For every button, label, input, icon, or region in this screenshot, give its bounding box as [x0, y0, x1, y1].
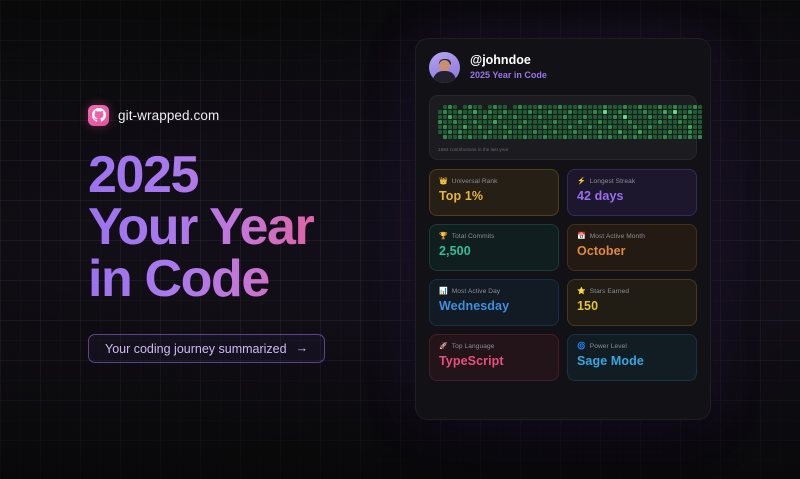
- contribution-cell: [478, 120, 482, 124]
- contribution-cell: [683, 110, 687, 114]
- contribution-cell: [598, 115, 602, 119]
- contribution-cell: [683, 120, 687, 124]
- contribution-cell: [673, 115, 677, 119]
- contribution-cell: [678, 130, 682, 134]
- wrapped-card: @johndoe 2025 Year in Code 1683 contribu…: [415, 38, 711, 420]
- contribution-cell: [553, 110, 557, 114]
- contribution-cell: [543, 125, 547, 129]
- contribution-cell: [543, 120, 547, 124]
- contribution-cell: [553, 135, 557, 139]
- contribution-cell: [493, 115, 497, 119]
- contribution-cell: [648, 125, 652, 129]
- contribution-cell: [503, 120, 507, 124]
- stat-value: October: [577, 244, 687, 258]
- contribution-cell: [523, 130, 527, 134]
- stat-value: 2,500: [439, 244, 549, 258]
- contribution-cell: [588, 130, 592, 134]
- contribution-graph[interactable]: [438, 105, 688, 139]
- contribution-cell: [618, 125, 622, 129]
- contribution-cell: [513, 135, 517, 139]
- contribution-cell: [438, 115, 442, 119]
- contribution-cell: [598, 130, 602, 134]
- contribution-cell: [643, 120, 647, 124]
- stat-head: 🏆Total Commits: [439, 233, 549, 240]
- contribution-cell: [563, 130, 567, 134]
- contribution-cell: [633, 105, 637, 109]
- contribution-cell: [688, 130, 692, 134]
- contribution-cell: [483, 130, 487, 134]
- contribution-cell: [448, 130, 452, 134]
- contribution-cell: [573, 130, 577, 134]
- contribution-cell: [593, 115, 597, 119]
- contribution-cell: [653, 125, 657, 129]
- contribution-cell: [643, 130, 647, 134]
- contribution-cell: [453, 110, 457, 114]
- contribution-cell: [438, 120, 442, 124]
- page-title-line-3: in Code: [88, 252, 388, 306]
- contribution-cell: [508, 120, 512, 124]
- contribution-cell: [673, 130, 677, 134]
- contribution-cell: [608, 105, 612, 109]
- contribution-cell: [678, 105, 682, 109]
- contribution-cell: [698, 105, 702, 109]
- contribution-cell: [623, 105, 627, 109]
- stat-card[interactable]: 🌀Power LevelSage Mode: [567, 334, 697, 381]
- github-octocat-icon: [88, 105, 109, 126]
- contribution-cell: [468, 120, 472, 124]
- contribution-cell: [538, 130, 542, 134]
- contribution-cell: [458, 105, 462, 109]
- contribution-cell: [468, 125, 472, 129]
- contribution-cell: [648, 130, 652, 134]
- contribution-cell: [548, 135, 552, 139]
- contribution-cell: [563, 115, 567, 119]
- contribution-cell: [443, 110, 447, 114]
- contribution-cell: [588, 135, 592, 139]
- contribution-cell: [593, 110, 597, 114]
- contribution-cell: [503, 105, 507, 109]
- contribution-cell: [693, 130, 697, 134]
- contribution-cell: [658, 110, 662, 114]
- contribution-cell: [668, 105, 672, 109]
- contribution-cell: [543, 110, 547, 114]
- contribution-cell: [618, 120, 622, 124]
- contribution-cell: [558, 105, 562, 109]
- contribution-cell: [518, 110, 522, 114]
- contribution-cell: [578, 125, 582, 129]
- arrow-right-icon: →: [296, 342, 309, 355]
- contribution-cell: [693, 115, 697, 119]
- contribution-cell: [513, 125, 517, 129]
- contribution-cell: [518, 105, 522, 109]
- contribution-cell: [503, 130, 507, 134]
- contribution-cell: [568, 125, 572, 129]
- contribution-cell: [513, 110, 517, 114]
- contribution-cell: [448, 120, 452, 124]
- contribution-cell: [468, 130, 472, 134]
- contribution-cell: [643, 115, 647, 119]
- contribution-cell: [603, 105, 607, 109]
- contribution-cell: [658, 130, 662, 134]
- contribution-cell: [583, 110, 587, 114]
- contribution-cell: [653, 130, 657, 134]
- contribution-cell: [508, 110, 512, 114]
- contribution-cell: [503, 110, 507, 114]
- contribution-cell: [438, 135, 442, 139]
- contribution-cell: [478, 130, 482, 134]
- contribution-cell: [583, 130, 587, 134]
- contribution-cell: [608, 115, 612, 119]
- contribution-cell: [468, 105, 472, 109]
- contribution-cell: [593, 130, 597, 134]
- contribution-cell: [603, 135, 607, 139]
- contribution-cell: [633, 120, 637, 124]
- contribution-cell: [693, 110, 697, 114]
- contribution-cell: [628, 130, 632, 134]
- contribution-cell: [543, 105, 547, 109]
- contribution-cell: [558, 125, 562, 129]
- stat-card[interactable]: 🚀Top LanguageTypeScript: [429, 334, 559, 381]
- contribution-cell: [473, 110, 477, 114]
- contribution-cell: [573, 125, 577, 129]
- contribution-cell: [493, 130, 497, 134]
- contribution-cell: [673, 120, 677, 124]
- stat-card[interactable]: 👑Universal RankTop 1%: [429, 169, 559, 216]
- contribution-cell: [528, 110, 532, 114]
- stat-label: Most Active Day: [452, 288, 500, 295]
- contribution-cell: [663, 115, 667, 119]
- stat-card[interactable]: 📊Most Active DayWednesday: [429, 279, 559, 326]
- contribution-cell: [623, 125, 627, 129]
- contribution-cell: [498, 115, 502, 119]
- stat-label: Top Language: [452, 343, 495, 350]
- contribution-cell: [663, 130, 667, 134]
- contribution-cell: [618, 115, 622, 119]
- contribution-cell: [473, 105, 477, 109]
- contribution-cell: [483, 135, 487, 139]
- contribution-cell: [498, 105, 502, 109]
- stat-label: Longest Streak: [590, 178, 635, 185]
- contribution-cell: [583, 115, 587, 119]
- contribution-cell: [623, 130, 627, 134]
- contribution-cell: [618, 105, 622, 109]
- contribution-cell: [643, 110, 647, 114]
- contribution-cell: [443, 120, 447, 124]
- contribution-cell: [538, 110, 542, 114]
- contribution-cell: [613, 105, 617, 109]
- contribution-cell: [653, 135, 657, 139]
- contribution-caption: 1683 contributions in the last year: [438, 147, 688, 152]
- contribution-cell: [463, 130, 467, 134]
- contribution-cell: [513, 130, 517, 134]
- contribution-cell: [593, 125, 597, 129]
- contribution-cell: [458, 120, 462, 124]
- contribution-cell: [688, 125, 692, 129]
- contribution-cell: [588, 110, 592, 114]
- contribution-cell: [558, 110, 562, 114]
- spiral-icon: 🌀: [577, 343, 586, 350]
- contribution-cell: [468, 135, 472, 139]
- contribution-cell: [518, 120, 522, 124]
- contribution-cell: [698, 130, 702, 134]
- contribution-cell: [563, 105, 567, 109]
- contribution-cell: [543, 135, 547, 139]
- star-icon: ⭐: [577, 288, 586, 295]
- card-header: @johndoe 2025 Year in Code: [429, 52, 697, 83]
- contribution-cell: [563, 125, 567, 129]
- contribution-cell: [448, 105, 452, 109]
- contribution-cell: [683, 130, 687, 134]
- contribution-cell: [628, 125, 632, 129]
- contribution-cell: [588, 125, 592, 129]
- contribution-cell: [533, 105, 537, 109]
- trophy-icon: 🏆: [439, 233, 448, 240]
- contribution-cell: [498, 135, 502, 139]
- contribution-cell: [658, 115, 662, 119]
- contribution-cell: [608, 125, 612, 129]
- contribution-cell: [603, 130, 607, 134]
- contribution-cell: [493, 110, 497, 114]
- contribution-cell: [613, 110, 617, 114]
- contribution-cell: [688, 110, 692, 114]
- contribution-cell: [638, 105, 642, 109]
- stat-head: 🌀Power Level: [577, 343, 687, 350]
- contribution-cell: [613, 130, 617, 134]
- contribution-cell: [513, 120, 517, 124]
- contribution-cell: [438, 125, 442, 129]
- contribution-cell: [473, 125, 477, 129]
- contribution-cell: [618, 110, 622, 114]
- stat-value: Wednesday: [439, 299, 549, 313]
- contribution-cell: [668, 125, 672, 129]
- contribution-cell: [543, 130, 547, 134]
- contribution-cell: [488, 105, 492, 109]
- contribution-cell: [538, 115, 542, 119]
- contribution-cell: [548, 110, 552, 114]
- contribution-cell: [618, 130, 622, 134]
- contribution-cell: [593, 120, 597, 124]
- page-title-line-1: 2025: [88, 148, 388, 202]
- brand-name: git-wrapped.com: [118, 108, 219, 123]
- stat-value: Sage Mode: [577, 354, 687, 368]
- contribution-cell: [603, 120, 607, 124]
- page-title-line-2: Your Year: [88, 200, 388, 254]
- contribution-graph-panel: 1683 contributions in the last year: [429, 95, 697, 160]
- contribution-cell: [693, 120, 697, 124]
- contribution-cell: [683, 105, 687, 109]
- contribution-cell: [538, 120, 542, 124]
- stat-card[interactable]: ⚡Longest Streak42 days: [567, 169, 697, 216]
- contribution-cell: [478, 125, 482, 129]
- contribution-cell: [613, 125, 617, 129]
- user-handle: @johndoe: [470, 53, 547, 69]
- contribution-cell: [698, 135, 702, 139]
- stat-card[interactable]: 🏆Total Commits2,500: [429, 224, 559, 271]
- rocket-icon: 🚀: [439, 343, 448, 350]
- bar-chart-icon: 📊: [439, 288, 448, 295]
- stat-head: 📊Most Active Day: [439, 288, 549, 295]
- contribution-cell: [473, 120, 477, 124]
- contribution-cell: [668, 115, 672, 119]
- contribution-cell: [673, 135, 677, 139]
- contribution-cell: [483, 120, 487, 124]
- contribution-cell: [458, 135, 462, 139]
- contribution-cell: [533, 115, 537, 119]
- contribution-cell: [473, 135, 477, 139]
- contribution-cell: [638, 125, 642, 129]
- contribution-cell: [563, 120, 567, 124]
- contribution-cell: [568, 105, 572, 109]
- contribution-cell: [523, 125, 527, 129]
- contribution-cell: [673, 105, 677, 109]
- contribution-cell: [683, 135, 687, 139]
- contribution-cell: [598, 110, 602, 114]
- contribution-cell: [463, 115, 467, 119]
- contribution-cell: [638, 135, 642, 139]
- contribution-cell: [458, 110, 462, 114]
- contribution-cell: [628, 120, 632, 124]
- contribution-cell: [578, 110, 582, 114]
- contribution-cell: [503, 135, 507, 139]
- contribution-cell: [538, 135, 542, 139]
- contribution-cell: [498, 125, 502, 129]
- contribution-cell: [568, 120, 572, 124]
- contribution-cell: [483, 105, 487, 109]
- stat-label: Universal Rank: [452, 178, 498, 185]
- cta-button[interactable]: Your coding journey summarized →: [88, 334, 325, 363]
- contribution-cell: [668, 130, 672, 134]
- contribution-cell: [458, 125, 462, 129]
- contribution-cell: [463, 125, 467, 129]
- contribution-cell: [553, 120, 557, 124]
- contribution-cell: [653, 110, 657, 114]
- contribution-cell: [523, 105, 527, 109]
- contribution-cell: [573, 105, 577, 109]
- contribution-cell: [498, 120, 502, 124]
- contribution-cell: [578, 115, 582, 119]
- contribution-cell: [448, 110, 452, 114]
- contribution-cell: [553, 105, 557, 109]
- contribution-cell: [458, 130, 462, 134]
- contribution-cell: [558, 135, 562, 139]
- contribution-cell: [643, 125, 647, 129]
- stat-label: Most Active Month: [590, 233, 645, 240]
- contribution-cell: [628, 105, 632, 109]
- contribution-cell: [548, 120, 552, 124]
- contribution-cell: [493, 135, 497, 139]
- contribution-cell: [473, 115, 477, 119]
- contribution-cell: [598, 120, 602, 124]
- contribution-cell: [638, 120, 642, 124]
- contribution-cell: [438, 130, 442, 134]
- contribution-cell: [528, 125, 532, 129]
- contribution-cell: [443, 115, 447, 119]
- contribution-cell: [473, 130, 477, 134]
- contribution-cell: [448, 135, 452, 139]
- stat-value: 150: [577, 299, 687, 313]
- contribution-cell: [693, 125, 697, 129]
- stat-value: TypeScript: [439, 354, 549, 368]
- contribution-cell: [698, 120, 702, 124]
- contribution-cell: [458, 115, 462, 119]
- contribution-cell: [643, 105, 647, 109]
- contribution-cell: [528, 115, 532, 119]
- contribution-cell: [548, 115, 552, 119]
- calendar-icon: 📅: [577, 233, 586, 240]
- contribution-cell: [553, 130, 557, 134]
- contribution-cell: [468, 110, 472, 114]
- contribution-cell: [598, 135, 602, 139]
- contribution-cell: [468, 115, 472, 119]
- contribution-cell: [443, 125, 447, 129]
- contribution-cell: [488, 115, 492, 119]
- contribution-cell: [648, 135, 652, 139]
- contribution-cell: [663, 105, 667, 109]
- contribution-cell: [628, 115, 632, 119]
- contribution-cell: [448, 125, 452, 129]
- contribution-cell: [613, 135, 617, 139]
- contribution-cell: [683, 125, 687, 129]
- contribution-cell: [623, 115, 627, 119]
- contribution-cell: [478, 110, 482, 114]
- contribution-cell: [453, 120, 457, 124]
- contribution-cell: [488, 125, 492, 129]
- contribution-cell: [523, 110, 527, 114]
- contribution-cell: [568, 130, 572, 134]
- contribution-cell: [528, 105, 532, 109]
- contribution-cell: [568, 135, 572, 139]
- contribution-cell: [658, 120, 662, 124]
- contribution-cell: [503, 115, 507, 119]
- avatar[interactable]: [429, 52, 460, 83]
- contribution-cell: [568, 110, 572, 114]
- contribution-cell: [533, 125, 537, 129]
- contribution-cell: [608, 135, 612, 139]
- lightning-icon: ⚡: [577, 178, 586, 185]
- contribution-cell: [633, 110, 637, 114]
- contribution-cell: [548, 130, 552, 134]
- contribution-cell: [678, 135, 682, 139]
- contribution-cell: [488, 120, 492, 124]
- contribution-cell: [443, 135, 447, 139]
- contribution-cell: [533, 135, 537, 139]
- contribution-cell: [463, 110, 467, 114]
- contribution-cell: [658, 135, 662, 139]
- contribution-cell: [438, 110, 442, 114]
- stat-card[interactable]: 📅Most Active MonthOctober: [567, 224, 697, 271]
- user-identity: @johndoe 2025 Year in Code: [470, 53, 547, 81]
- contribution-cell: [538, 125, 542, 129]
- contribution-cell: [693, 105, 697, 109]
- contribution-cell: [533, 120, 537, 124]
- contribution-cell: [528, 120, 532, 124]
- contribution-cell: [478, 115, 482, 119]
- contribution-cell: [578, 120, 582, 124]
- contribution-cell: [658, 105, 662, 109]
- contribution-cell: [523, 135, 527, 139]
- hero-section: git-wrapped.com 2025 Your Year in Code Y…: [88, 104, 388, 363]
- stat-card[interactable]: ⭐Stars Earned150: [567, 279, 697, 326]
- contribution-cell: [578, 135, 582, 139]
- contribution-cell: [668, 120, 672, 124]
- contribution-cell: [698, 115, 702, 119]
- contribution-cell: [633, 135, 637, 139]
- contribution-cell: [438, 105, 442, 109]
- contribution-cell: [658, 125, 662, 129]
- contribution-cell: [498, 130, 502, 134]
- contribution-cell: [548, 125, 552, 129]
- contribution-cell: [523, 120, 527, 124]
